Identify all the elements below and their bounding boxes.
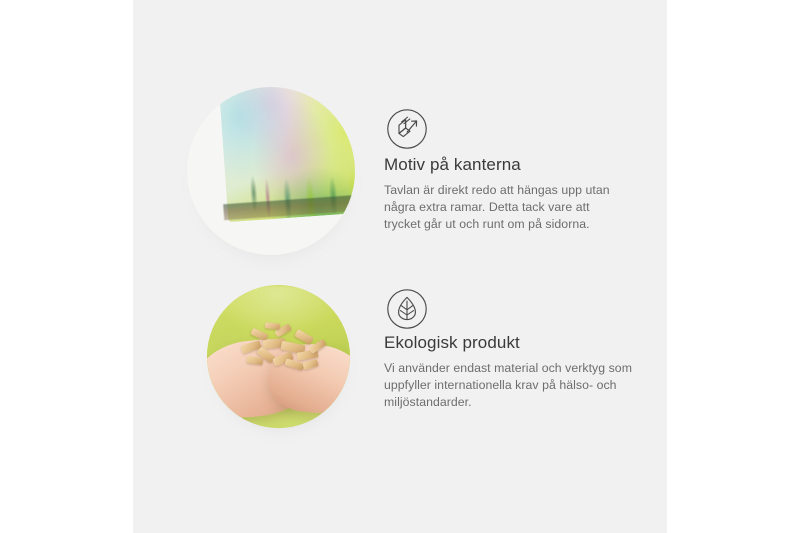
feature-1-title: Motiv på kanterna (384, 154, 664, 176)
feature-2-body-line-1: Vi använder endast material och verktyg … (384, 360, 664, 377)
hands-wood-chips-photo (207, 285, 350, 428)
content-panel (133, 0, 667, 533)
canvas-edge-arrow-icon (386, 108, 428, 150)
leaf-icon (386, 288, 428, 330)
left-white-band (0, 0, 133, 533)
feature-1-text: Motiv på kanterna Tavlan är direkt redo … (384, 154, 664, 233)
feature-2-body-line-3: miljöstandarder. (384, 394, 664, 411)
wood-chips-pile (237, 321, 329, 377)
feature-2-text: Ekologisk produkt Vi använder endast mat… (384, 332, 664, 411)
feature-1-body-line-1: Tavlan är direkt redo att hängas upp uta… (384, 182, 664, 199)
product-feature-banner: Motiv på kanterna Tavlan är direkt redo … (0, 0, 800, 533)
feature-2-body-line-2: uppfyller internationella krav på hälso-… (384, 377, 664, 394)
feature-1-body-line-2: några extra ramar. Detta tack vare att (384, 199, 664, 216)
feature-2-title: Ekologisk produkt (384, 332, 664, 354)
feature-1-body: Tavlan är direkt redo att hängas upp uta… (384, 182, 664, 233)
feature-1-body-line-3: trycket går ut och runt om på sidorna. (384, 216, 664, 233)
canvas-corner-photo (187, 87, 355, 255)
right-white-band (667, 0, 800, 533)
feature-2-body: Vi använder endast material och verktyg … (384, 360, 664, 411)
